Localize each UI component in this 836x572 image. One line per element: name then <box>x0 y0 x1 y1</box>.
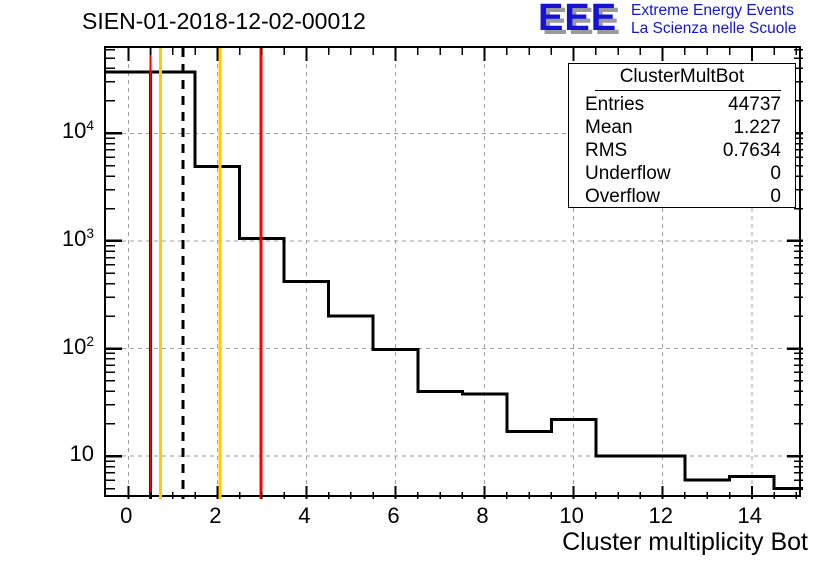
x-tick-label: 2 <box>209 503 221 529</box>
y-tick-label: 10 <box>70 441 94 467</box>
y-tick-label: 102 <box>62 333 94 359</box>
x-tick-label: 12 <box>648 503 672 529</box>
x-tick-label: 10 <box>559 503 583 529</box>
stats-row-value: 1.227 <box>733 116 781 139</box>
stats-title-underline <box>595 90 781 91</box>
stats-row: Entries44737 <box>579 93 785 116</box>
stats-row-value: 44737 <box>728 93 781 116</box>
stats-box: ClusterMultBot Entries44737Mean1.227RMS0… <box>568 63 796 208</box>
eee-logo-line2: La Scienza nelle Scuole <box>631 20 796 38</box>
stats-row-key: Entries <box>585 93 644 116</box>
x-tick-label: 6 <box>387 503 399 529</box>
stats-row: Underflow0 <box>579 162 785 185</box>
root-canvas: SIEN-01-2018-12-02-00012 EEE EEE Extreme… <box>0 0 836 572</box>
x-tick-label: 14 <box>738 503 762 529</box>
y-tick-label: 103 <box>62 226 94 252</box>
x-axis-title: Cluster multiplicity Bot <box>562 528 808 557</box>
stats-row: Mean1.227 <box>579 116 785 139</box>
stats-row-value: 0 <box>770 185 781 208</box>
eee-logo-letters: EEE <box>538 0 617 38</box>
stats-row: RMS0.7634 <box>579 139 785 162</box>
y-tick-label: 104 <box>62 118 94 144</box>
eee-logo-line1: Extreme Energy Events <box>631 2 796 20</box>
stats-row-key: Mean <box>585 116 633 139</box>
stats-row-key: Underflow <box>585 162 671 185</box>
stats-row-value: 0 <box>770 162 781 185</box>
x-tick-label: 0 <box>120 503 132 529</box>
x-tick-label: 8 <box>476 503 488 529</box>
stats-row-value: 0.7634 <box>723 139 781 162</box>
stats-row-key: Overflow <box>585 185 660 208</box>
stats-row: Overflow0 <box>579 185 785 208</box>
x-tick-label: 4 <box>298 503 310 529</box>
stats-row-key: RMS <box>585 139 627 162</box>
page-title: SIEN-01-2018-12-02-00012 <box>82 8 366 35</box>
stats-box-title: ClusterMultBot <box>569 66 795 88</box>
eee-logo-text: Extreme Energy Events La Scienza nelle S… <box>631 2 796 38</box>
eee-logo: EEE EEE Extreme Energy Events La Scienza… <box>535 2 835 42</box>
